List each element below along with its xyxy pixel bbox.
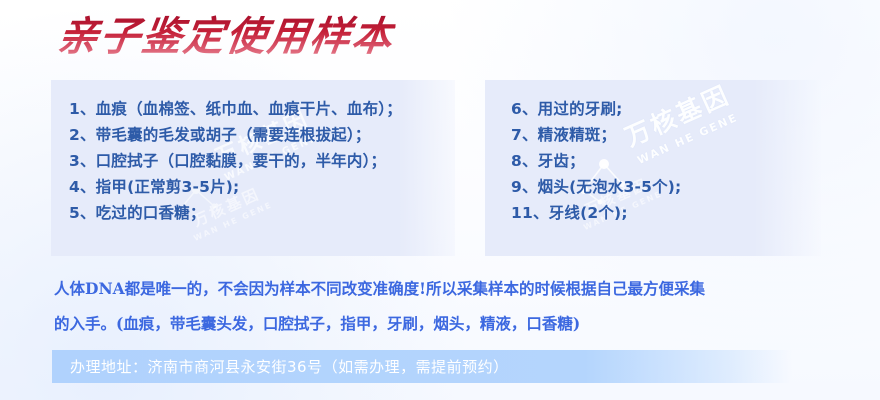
list-item: 9、烟头(无泡水3-5个); bbox=[511, 174, 811, 200]
sample-panel-left: 1、血痕（血棉签、纸巾血、血痕干片、血布）； 2、带毛囊的毛发或胡子（需要连根拔… bbox=[51, 80, 455, 256]
sample-list-right: 6、用过的牙刷; 7、精液精斑； 8、牙齿； 9、烟头(无泡水3-5个); 11… bbox=[511, 96, 811, 226]
address-banner-text: 办理地址：济南市商河县永安街36号（如需办理，需提前预约） bbox=[70, 356, 509, 377]
list-item: 7、精液精斑； bbox=[511, 122, 811, 148]
poster-canvas: 亲子鉴定使用样本 1、血痕（血棉签、纸巾血、血痕干片、血布）； 2、带毛囊的毛发… bbox=[0, 0, 880, 400]
list-item: 1、血痕（血棉签、纸巾血、血痕干片、血布）； bbox=[69, 96, 445, 122]
page-title: 亲子鉴定使用样本 bbox=[58, 14, 394, 60]
note-paragraph: 人体DNA都是唯一的，不会因为样本不同改变准确度!所以采集样本的时候根据自己最方… bbox=[54, 271, 860, 341]
list-item: 6、用过的牙刷; bbox=[511, 96, 811, 122]
list-item: 3、口腔拭子（口腔黏膜，要干的，半年内）； bbox=[69, 148, 445, 174]
note-line-1: 人体DNA都是唯一的，不会因为样本不同改变准确度!所以采集样本的时候根据自己最方… bbox=[54, 271, 860, 306]
list-item: 11、牙线(2个); bbox=[511, 200, 811, 226]
page-title-text: 亲子鉴定使用样本 bbox=[55, 14, 397, 60]
note-line-2: 的入手。(血痕，带毛囊头发，口腔拭子，指甲，牙刷，烟头，精液，口香糖) bbox=[54, 306, 860, 341]
list-item: 2、带毛囊的毛发或胡子（需要连根拔起）； bbox=[69, 122, 445, 148]
address-banner: 办理地址：济南市商河县永安街36号（如需办理，需提前预约） bbox=[52, 350, 792, 383]
sample-panel-right: 6、用过的牙刷; 7、精液精斑； 8、牙齿； 9、烟头(无泡水3-5个); 11… bbox=[485, 80, 821, 256]
sample-list-left: 1、血痕（血棉签、纸巾血、血痕干片、血布）； 2、带毛囊的毛发或胡子（需要连根拔… bbox=[69, 96, 445, 226]
list-item: 8、牙齿； bbox=[511, 148, 811, 174]
list-item: 5、吃过的口香糖； bbox=[69, 200, 445, 226]
list-item: 4、指甲(正常剪3-5片); bbox=[69, 174, 445, 200]
